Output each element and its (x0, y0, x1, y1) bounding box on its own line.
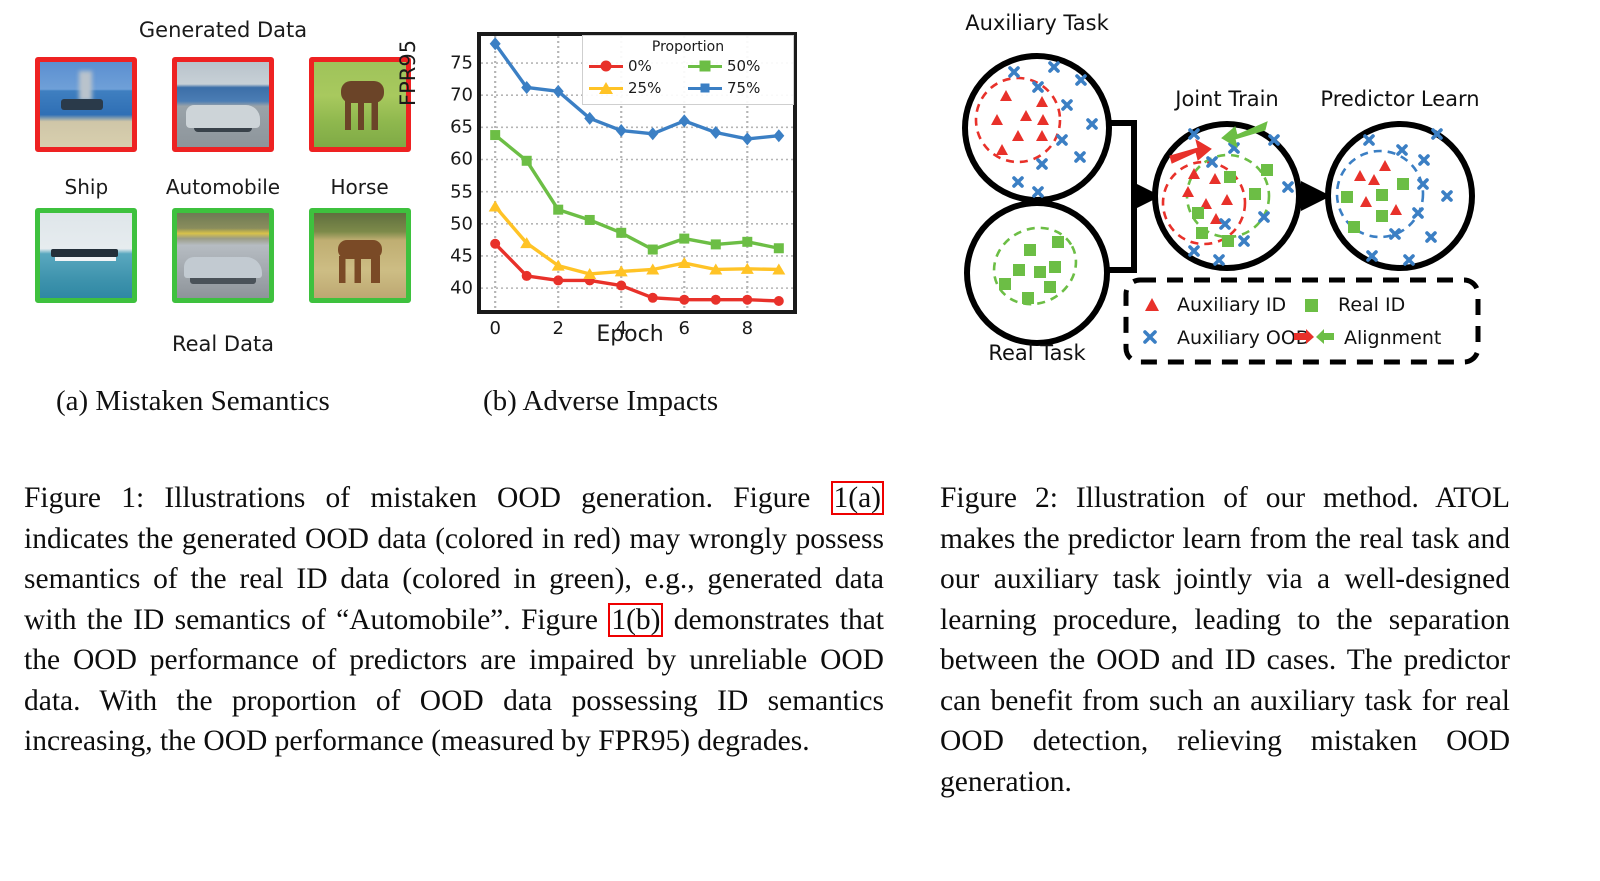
chart-x-tick-label: 0 (489, 318, 500, 339)
chart-legend-title: Proportion (589, 39, 787, 55)
real-thumb-horse (309, 208, 411, 303)
chart-x-tick-label: 6 (679, 318, 690, 339)
chart-legend: Proportion 0% 50% 25% 75% (582, 35, 794, 105)
chart-marker (490, 130, 500, 140)
chart-y-tick-label: 70 (433, 85, 473, 106)
legend-item-0pct[interactable]: 0% (589, 55, 688, 77)
chart-y-tick-label: 55 (433, 181, 473, 202)
generated-data-title: Generated Data (18, 18, 428, 42)
legend-item-25pct[interactable]: 25% (589, 77, 688, 99)
legend-label-alignment: Alignment (1344, 327, 1441, 349)
chart-marker (648, 293, 658, 303)
legend-label-auxiliary-ood: Auxiliary OOD (1177, 327, 1310, 349)
legend-item-75pct[interactable]: 75% (688, 77, 787, 99)
legend-label-real-id: Real ID (1338, 294, 1405, 316)
figure2-legend-box (1126, 280, 1478, 362)
chart-marker (774, 243, 784, 253)
legend-marker-real-id (1305, 299, 1318, 312)
subcaption-row: (a) Mistaken Semantics (b) Adverse Impac… (18, 385, 838, 435)
chart-marker (585, 215, 595, 225)
class-label-ship: Ship (26, 175, 146, 199)
legend-label-50pct: 50% (727, 57, 760, 75)
chart-marker (490, 239, 500, 249)
chart-y-tick-label: 75 (433, 53, 473, 74)
legend-swatch-50pct (688, 65, 722, 68)
generated-data-row (18, 57, 428, 152)
legend-label-auxiliary-id: Auxiliary ID (1177, 294, 1286, 316)
real-task-title: Real Task (988, 341, 1086, 365)
legend-item-50pct[interactable]: 50% (688, 55, 787, 77)
subcaption-b: (b) Adverse Impacts (483, 385, 718, 418)
chart-marker (742, 132, 753, 145)
legend-marker (701, 84, 710, 93)
chart-y-axis-label: FPR95 (396, 40, 420, 106)
chart-marker (774, 296, 784, 306)
legend-marker (700, 61, 711, 72)
legend-label-0pct: 0% (628, 57, 652, 75)
chart-marker (616, 281, 626, 291)
real-thumb-automobile (172, 208, 274, 303)
figure-1a-image-grid: Generated Data Ship Automobile Horse Rea… (18, 10, 428, 370)
class-label-automobile: Automobile (163, 175, 283, 199)
legend-swatch-0pct (589, 65, 623, 68)
chart-marker (553, 205, 563, 215)
class-label-horse: Horse (300, 175, 420, 199)
subcaption-a: (a) Mistaken Semantics (56, 385, 330, 418)
real-data-title: Real Data (18, 332, 428, 356)
figure-2-caption: Figure 2: Illustration of our method. AT… (940, 478, 1510, 802)
legend-marker (599, 82, 613, 94)
legend-marker (601, 61, 612, 72)
chart-marker (679, 234, 689, 244)
figure-1-caption: Figure 1: Illustrations of mistaken OOD … (24, 478, 884, 762)
generated-thumb-ship (35, 57, 137, 152)
chart-y-tick-label: 45 (433, 245, 473, 266)
figure-2-method-diagram: Auxiliary Task (930, 8, 1490, 370)
chart-marker (522, 156, 532, 166)
chart-x-tick-label: 4 (616, 318, 627, 339)
figure-1b-line-chart: FPR95 Epoch 4045505560657075 02468 Propo… (430, 10, 830, 370)
chart-y-tick-label: 40 (433, 278, 473, 299)
chart-marker (647, 127, 658, 140)
chart-marker (522, 271, 532, 281)
chart-marker (773, 129, 784, 142)
chart-marker (742, 237, 752, 247)
predictor-learn-title: Predictor Learn (1320, 87, 1479, 111)
chart-marker (489, 200, 502, 211)
chart-marker (616, 228, 626, 238)
chart-y-tick-label: 60 (433, 149, 473, 170)
chart-marker (679, 114, 690, 127)
caption1-ref-b[interactable]: 1(b) (608, 603, 663, 637)
chart-marker (679, 295, 689, 305)
caption1-prefix: Figure 1: Illustrations of mistaken OOD … (24, 482, 831, 514)
chart-marker (711, 239, 721, 249)
chart-x-tick-label: 2 (552, 318, 563, 339)
legend-label-75pct: 75% (727, 79, 760, 97)
chart-marker (742, 295, 752, 305)
merge-bracket (1108, 123, 1134, 270)
legend-swatch-25pct (589, 87, 623, 90)
auxiliary-task-title: Auxiliary Task (965, 11, 1109, 35)
generated-thumb-automobile (172, 57, 274, 152)
caption1-ref-a[interactable]: 1(a) (831, 481, 885, 515)
chart-marker (711, 295, 721, 305)
class-label-row: Ship Automobile Horse (18, 175, 428, 199)
figure-2-svg: Auxiliary Task (930, 8, 1490, 370)
chart-marker (648, 245, 658, 255)
real-data-row (18, 208, 428, 303)
legend-swatch-75pct (688, 87, 722, 90)
legend-label-25pct: 25% (628, 79, 661, 97)
joint-train-title: Joint Train (1173, 87, 1278, 111)
chart-marker (616, 124, 627, 137)
real-thumb-ship (35, 208, 137, 303)
chart-y-tick-label: 50 (433, 213, 473, 234)
chart-y-tick-label: 65 (433, 117, 473, 138)
chart-marker (553, 275, 563, 285)
chart-x-tick-label: 8 (742, 318, 753, 339)
